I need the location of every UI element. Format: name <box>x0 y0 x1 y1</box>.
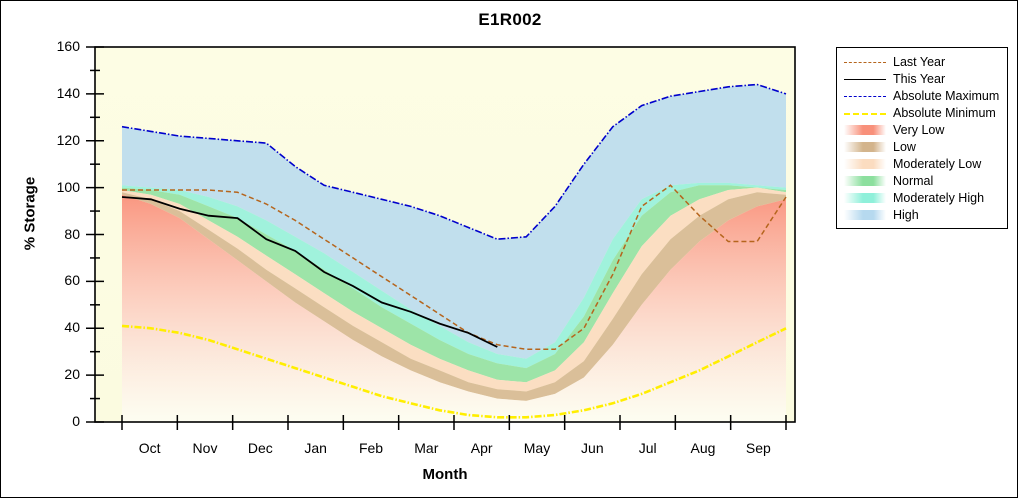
x-tick-label: Oct <box>120 440 180 456</box>
x-tick-label: Nov <box>175 440 235 456</box>
legend-swatch-absolute-maximum-icon <box>844 90 886 102</box>
x-tick-label: Jan <box>286 440 346 456</box>
legend-band-mark <box>844 193 886 203</box>
legend-label: Normal <box>893 174 933 188</box>
legend-line-mark <box>844 113 886 115</box>
x-tick-label: May <box>507 440 567 456</box>
legend-label: Moderately High <box>893 191 984 205</box>
legend-band-mark <box>844 142 886 152</box>
legend-band-mark <box>844 125 886 135</box>
legend-item[interactable]: This Year <box>841 70 1003 87</box>
legend-label: High <box>893 208 919 222</box>
legend-band-mark <box>844 176 886 186</box>
legend-swatch-normal-icon <box>844 175 886 187</box>
y-tick-label: 140 <box>40 85 80 101</box>
y-tick-label: 120 <box>40 132 80 148</box>
legend-item[interactable]: Moderately Low <box>841 155 1003 172</box>
x-tick-label: Jul <box>618 440 678 456</box>
legend-label: This Year <box>893 72 945 86</box>
y-tick-label: 40 <box>40 319 80 335</box>
legend-line-mark <box>844 62 886 63</box>
x-tick-label: Mar <box>396 440 456 456</box>
legend-item[interactable]: Low <box>841 138 1003 155</box>
legend-swatch-this-year-icon <box>844 73 886 85</box>
legend-item[interactable]: Very Low <box>841 121 1003 138</box>
y-tick-label: 100 <box>40 179 80 195</box>
legend-item[interactable]: Moderately High <box>841 189 1003 206</box>
legend-item[interactable]: Absolute Minimum <box>841 104 1003 121</box>
y-tick-label: 0 <box>40 413 80 429</box>
legend-line-mark <box>844 96 886 97</box>
y-tick-label: 80 <box>40 226 80 242</box>
legend-item[interactable]: High <box>841 206 1003 223</box>
legend-label: Absolute Minimum <box>893 106 996 120</box>
y-axis-label: % Storage <box>22 154 39 274</box>
chart-legend: Last YearThis YearAbsolute MaximumAbsolu… <box>836 47 1008 229</box>
legend-swatch-moderately-low-icon <box>844 158 886 170</box>
legend-band-mark <box>844 159 886 169</box>
x-tick-label: Feb <box>341 440 401 456</box>
legend-swatch-absolute-minimum-icon <box>844 107 886 119</box>
x-tick-label: Apr <box>452 440 512 456</box>
legend-band-mark <box>844 210 886 220</box>
legend-swatch-last-year-icon <box>844 56 886 68</box>
legend-swatch-very-low-icon <box>844 124 886 136</box>
legend-label: Moderately Low <box>893 157 981 171</box>
y-tick-label: 20 <box>40 366 80 382</box>
y-tick-label: 160 <box>40 38 80 54</box>
legend-item[interactable]: Last Year <box>841 53 1003 70</box>
x-tick-label: Jun <box>562 440 622 456</box>
x-tick-label: Aug <box>673 440 733 456</box>
legend-swatch-low-icon <box>844 141 886 153</box>
legend-label: Low <box>893 140 916 154</box>
legend-label: Very Low <box>893 123 944 137</box>
x-tick-label: Dec <box>230 440 290 456</box>
legend-line-mark <box>844 79 886 80</box>
legend-item[interactable]: Normal <box>841 172 1003 189</box>
legend-item[interactable]: Absolute Maximum <box>841 87 1003 104</box>
y-tick-label: 60 <box>40 272 80 288</box>
x-tick-label: Sep <box>728 440 788 456</box>
legend-swatch-high-icon <box>844 209 886 221</box>
legend-label: Last Year <box>893 55 945 69</box>
x-axis-label: Month <box>95 466 795 483</box>
legend-swatch-moderately-high-icon <box>844 192 886 204</box>
legend-label: Absolute Maximum <box>893 89 999 103</box>
